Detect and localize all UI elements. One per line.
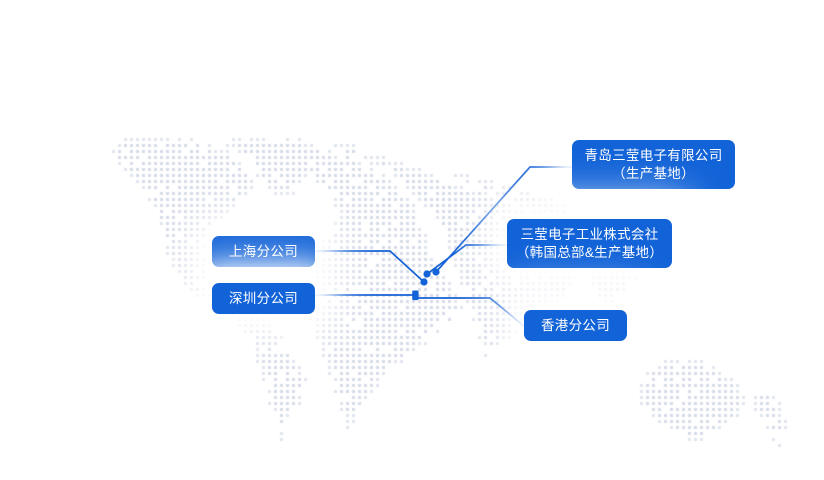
label-korea-line2: （韩国总部&生产基地） bbox=[516, 244, 663, 262]
label-korea-hq[interactable]: 三莹电子工业株式会社 （韩国总部&生产基地） bbox=[507, 219, 672, 268]
label-qingdao[interactable]: 青岛三莹电子有限公司 （生产基地） bbox=[572, 140, 735, 189]
label-shanghai-branch[interactable]: 上海分公司 bbox=[212, 236, 315, 267]
label-korea-line1: 三莹电子工业株式会社 bbox=[521, 226, 659, 244]
label-qingdao-line2: （生产基地） bbox=[612, 165, 695, 183]
label-hongkong-branch[interactable]: 香港分公司 bbox=[524, 310, 627, 341]
label-shanghai-line1: 上海分公司 bbox=[229, 243, 298, 261]
label-shenzhen-branch[interactable]: 深圳分公司 bbox=[212, 283, 315, 314]
label-shenzhen-line1: 深圳分公司 bbox=[229, 290, 298, 308]
label-hongkong-line1: 香港分公司 bbox=[541, 317, 610, 335]
label-qingdao-line1: 青岛三莹电子有限公司 bbox=[585, 147, 723, 165]
dotted-world-map bbox=[0, 0, 824, 480]
world-map-infographic: 青岛三莹电子有限公司 （生产基地） 三莹电子工业株式会社 （韩国总部&生产基地）… bbox=[0, 0, 824, 480]
world-map-canvas bbox=[0, 0, 824, 480]
